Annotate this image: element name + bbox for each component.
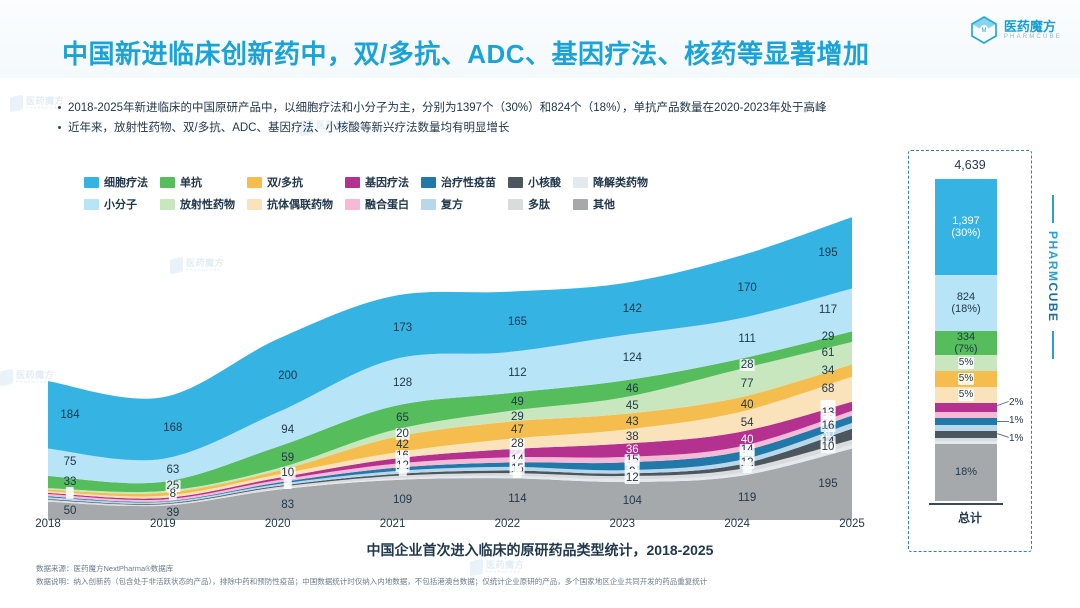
data-label: 128	[393, 377, 412, 389]
list-item: 2018-2025年新进临床的中国原研产品中，以细胞疗法和小分子为主，分别为13…	[58, 98, 1058, 118]
vertical-text-b: CUBE	[1046, 283, 1060, 323]
data-label: 45	[626, 400, 639, 412]
pharmcube-vertical-mark: PHARMCUBE	[1046, 195, 1060, 359]
summary-panel: 4,639 1,397(30%)824(18%)334(7%)5%5%5%3%2…	[908, 150, 1032, 552]
data-label: 29	[511, 411, 524, 423]
summary-leader-line	[997, 433, 1009, 438]
data-label: 3	[66, 487, 74, 499]
data-label: 170	[738, 282, 757, 294]
x-axis-tick-2022: 2022	[495, 518, 521, 530]
data-label: 173	[393, 322, 412, 334]
data-label: 68	[822, 383, 835, 395]
data-label: 94	[281, 424, 294, 436]
list-item: 近年来，放射性药物、双/多抗、ADC、基因疗法、小核酸等新兴疗法数量均有明显增长	[58, 118, 1058, 138]
data-label: 168	[163, 422, 182, 434]
data-label: 195	[818, 478, 837, 490]
data-label: 112	[508, 367, 526, 379]
summary-leader-line	[997, 401, 1009, 406]
stacked-area-plot: 1847533350168632583920094591028317312865…	[40, 160, 890, 520]
x-axis-tick-2020: 2020	[265, 518, 291, 530]
data-label: 104	[623, 495, 642, 507]
data-label: 83	[281, 499, 294, 511]
data-label: 20	[395, 428, 410, 440]
footnotes: 数据来源：医药魔方NextPharma®数据库 数据说明：纳入创新药（包含处于非…	[36, 562, 1046, 588]
data-label: 50	[64, 505, 77, 517]
data-label: 65	[396, 412, 409, 424]
summary-segment-2: 334(7%)	[935, 331, 997, 355]
data-label: 111	[738, 333, 755, 345]
summary-segment-5: 5%	[935, 387, 997, 403]
summary-segment-label: 5%	[958, 357, 974, 369]
svg-text:M: M	[981, 28, 986, 34]
summary-stacked-bar: 1,397(30%)824(18%)334(7%)5%5%5%3%2%2%2%2…	[935, 179, 997, 501]
data-label: 8	[169, 488, 177, 500]
x-axis: 20182019202020212022202320242025	[40, 518, 890, 540]
note-description: 数据说明：纳入创新药（包含处于非活跃状态的产品），排除中药和预防性疫苗；中国数据…	[36, 575, 1046, 588]
data-label: 124	[623, 352, 642, 364]
x-axis-tick-2024: 2024	[724, 518, 750, 530]
bullet-text: 近年来，放射性药物、双/多抗、ADC、基因疗法、小核酸等新兴疗法数量均有明显增长	[68, 118, 509, 138]
data-label: 8	[513, 466, 521, 478]
summary-segment-13: 18%	[935, 444, 997, 501]
divider	[1052, 195, 1054, 223]
pharmcube-vertical-text: PHARMCUBE	[1046, 231, 1060, 323]
data-label: 54	[741, 417, 754, 429]
data-label: 47	[511, 424, 524, 436]
data-label: 40	[741, 399, 754, 411]
data-label: 75	[64, 456, 77, 468]
summary-segment-label: 1,397(30%)	[951, 215, 980, 239]
chart-caption: 中国企业首次进入临床的原研药品类型统计，2018-2025	[0, 540, 1080, 560]
data-label: 114	[508, 493, 526, 505]
data-label: 119	[738, 492, 756, 504]
data-label: 8	[398, 464, 406, 476]
data-label: 12	[625, 472, 640, 484]
summary-baseline	[929, 503, 1003, 505]
data-label: 9	[743, 461, 751, 473]
data-label: 2	[284, 477, 292, 489]
x-axis-tick-2018: 2018	[35, 518, 61, 530]
data-label: 28	[740, 359, 755, 371]
data-label: 29	[822, 331, 835, 343]
pharmcube-cube-icon: M	[971, 16, 997, 44]
data-label: 195	[818, 247, 837, 259]
summary-segment-3: 5%	[935, 355, 997, 371]
data-label: 59	[281, 452, 294, 464]
summary-segment-1: 824(18%)	[935, 275, 997, 331]
summary-segment-label: 334(7%)	[954, 331, 977, 355]
bullet-dot-icon	[58, 126, 61, 129]
summary-total-value: 4,639	[909, 158, 1031, 172]
data-label: 200	[278, 370, 297, 382]
data-label: 184	[60, 409, 79, 421]
bullet-list: 2018-2025年新进临床的中国原研产品中，以细胞疗法和小分子为主，分别为13…	[58, 98, 1058, 138]
data-label: 63	[166, 464, 179, 476]
data-label: 34	[822, 365, 835, 377]
data-label: 77	[741, 378, 754, 390]
data-label: 165	[508, 316, 527, 328]
summary-segment-4: 5%	[935, 371, 997, 387]
bullet-dot-icon	[58, 106, 61, 109]
summary-segment-0: 1,397(30%)	[935, 179, 997, 275]
vertical-text-a: PHARM	[1046, 231, 1060, 283]
divider	[1052, 331, 1054, 359]
summary-segment-label: 5%	[958, 389, 974, 401]
data-label: 61	[822, 347, 835, 359]
page-title: 中国新进临床创新药中，双/多抗、ADC、基因疗法、核药等显著增加	[62, 34, 870, 71]
summary-leader-label: 1%	[1009, 433, 1023, 444]
summary-leader-label: 2%	[1009, 397, 1023, 408]
watermark: 医药魔方PHARMCUBE	[10, 96, 64, 111]
data-label: 33	[64, 476, 77, 488]
x-axis-tick-2019: 2019	[150, 518, 176, 530]
data-label: 49	[511, 396, 524, 408]
data-label: 46	[626, 383, 639, 395]
summary-segment-label: 18%	[955, 466, 977, 478]
summary-axis-label: 总计	[909, 509, 1031, 526]
x-axis-tick-2023: 2023	[609, 518, 635, 530]
summary-segment-6: 3%	[935, 403, 997, 413]
data-label: 43	[626, 416, 639, 428]
summary-segment-label: 5%	[958, 373, 974, 385]
data-label: 10	[821, 441, 836, 453]
bullet-text: 2018-2025年新进临床的中国原研产品中，以细胞疗法和小分子为主，分别为13…	[68, 98, 827, 118]
data-label: 109	[393, 494, 412, 506]
data-label: 117	[819, 304, 837, 316]
summary-leader-line	[997, 421, 1009, 422]
data-label: 142	[623, 303, 642, 315]
summary-leader-label: 1%	[1009, 415, 1023, 426]
brand-name-cn: 医药魔方	[1004, 20, 1062, 34]
data-label: 38	[626, 431, 639, 443]
note-source: 数据来源：医药魔方NextPharma®数据库	[36, 562, 1046, 575]
brand-logo: M 医药魔方 PHARMCUBE	[971, 16, 1062, 44]
x-axis-tick-2025: 2025	[839, 518, 865, 530]
summary-segment-label: 824(18%)	[951, 291, 980, 315]
brand-name-en: PHARMCUBE	[1004, 34, 1062, 40]
x-axis-tick-2021: 2021	[380, 518, 406, 530]
